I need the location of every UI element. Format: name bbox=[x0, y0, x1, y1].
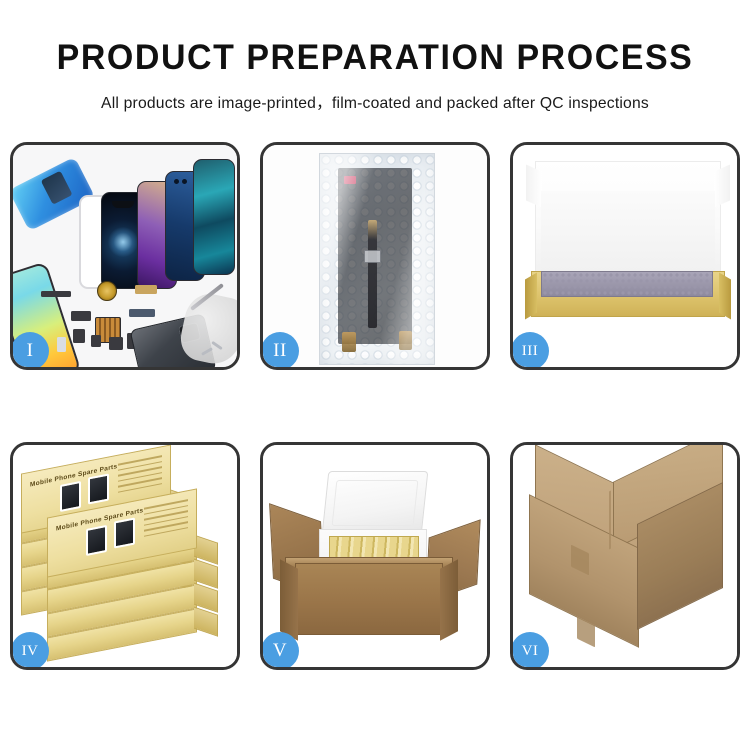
process-step-grid: I II bbox=[10, 142, 740, 682]
phone-teal-display bbox=[193, 159, 235, 275]
connector-left bbox=[342, 332, 356, 352]
process-step-6[interactable]: VI bbox=[510, 442, 740, 670]
retail-box-thumb bbox=[88, 473, 109, 504]
retail-box-thumb bbox=[114, 517, 135, 548]
white-foam-sheet bbox=[541, 191, 715, 271]
carton-top-seam bbox=[609, 491, 611, 550]
step-photo-foam-box bbox=[513, 145, 737, 367]
part-bracket-b bbox=[91, 335, 101, 347]
driver-ic-chip bbox=[364, 250, 381, 263]
process-step-3[interactable]: III bbox=[510, 142, 740, 370]
retail-box-stack: Mobile Phone Spare Parts Mobile Pho bbox=[15, 459, 237, 665]
header: PRODUCT PREPARATION PROCESS All products… bbox=[0, 0, 750, 113]
process-step-2[interactable]: II bbox=[260, 142, 490, 370]
part-connector-gold bbox=[135, 285, 157, 294]
step-frame: VI bbox=[510, 442, 740, 670]
step-frame: I bbox=[10, 142, 240, 370]
step-photo-raw-parts bbox=[13, 145, 237, 367]
process-step-5[interactable]: V bbox=[260, 442, 490, 670]
grey-antistatic-foam bbox=[541, 271, 713, 297]
step-frame: III bbox=[510, 142, 740, 370]
retail-box-speclines bbox=[118, 455, 162, 498]
retail-box-thumb bbox=[60, 481, 81, 512]
retail-box-speclines bbox=[144, 499, 188, 542]
carton-front-panel bbox=[295, 563, 443, 635]
part-camera-module bbox=[109, 337, 123, 350]
connector-right bbox=[399, 331, 412, 350]
step-photo-retail-box-stack: Mobile Phone Spare Parts Mobile Pho bbox=[13, 445, 237, 667]
step-badge-6: VI bbox=[511, 632, 549, 670]
retail-box-thumb bbox=[86, 525, 107, 556]
step-photo-styrofoam-carton bbox=[263, 445, 487, 667]
flex-cable bbox=[368, 220, 377, 328]
part-wireless-coil bbox=[97, 281, 117, 301]
qc-sticker bbox=[344, 176, 356, 184]
styrofoam-lid bbox=[322, 471, 429, 535]
product-preparation-infographic: PRODUCT PREPARATION PROCESS All products… bbox=[0, 0, 750, 750]
part-speaker-bar bbox=[41, 291, 71, 297]
process-step-4[interactable]: Mobile Phone Spare Parts Mobile Pho bbox=[10, 442, 240, 670]
part-flex-b bbox=[129, 309, 155, 317]
page-title: PRODUCT PREPARATION PROCESS bbox=[11, 40, 739, 75]
bubble-wrap-bag bbox=[319, 153, 435, 365]
step-badge-3: III bbox=[511, 332, 549, 370]
part-sim-tray bbox=[57, 337, 66, 352]
part-flex-a bbox=[71, 311, 91, 321]
step-frame: Mobile Phone Spare Parts Mobile Pho bbox=[10, 442, 240, 670]
step-frame: V bbox=[260, 442, 490, 670]
step-badge-5: V bbox=[261, 632, 299, 670]
part-bracket-a bbox=[73, 329, 85, 343]
process-step-1[interactable]: I bbox=[10, 142, 240, 370]
step-badge-1: I bbox=[11, 332, 49, 370]
page-subtitle: All products are image-printed，film-coat… bbox=[8, 89, 743, 113]
step-frame: II bbox=[260, 142, 490, 370]
step-badge-2: II bbox=[261, 332, 299, 370]
step-badge-4: IV bbox=[11, 632, 49, 670]
step-photo-sealed-carton bbox=[513, 445, 737, 667]
step-photo-bubble-wrap bbox=[263, 145, 487, 367]
